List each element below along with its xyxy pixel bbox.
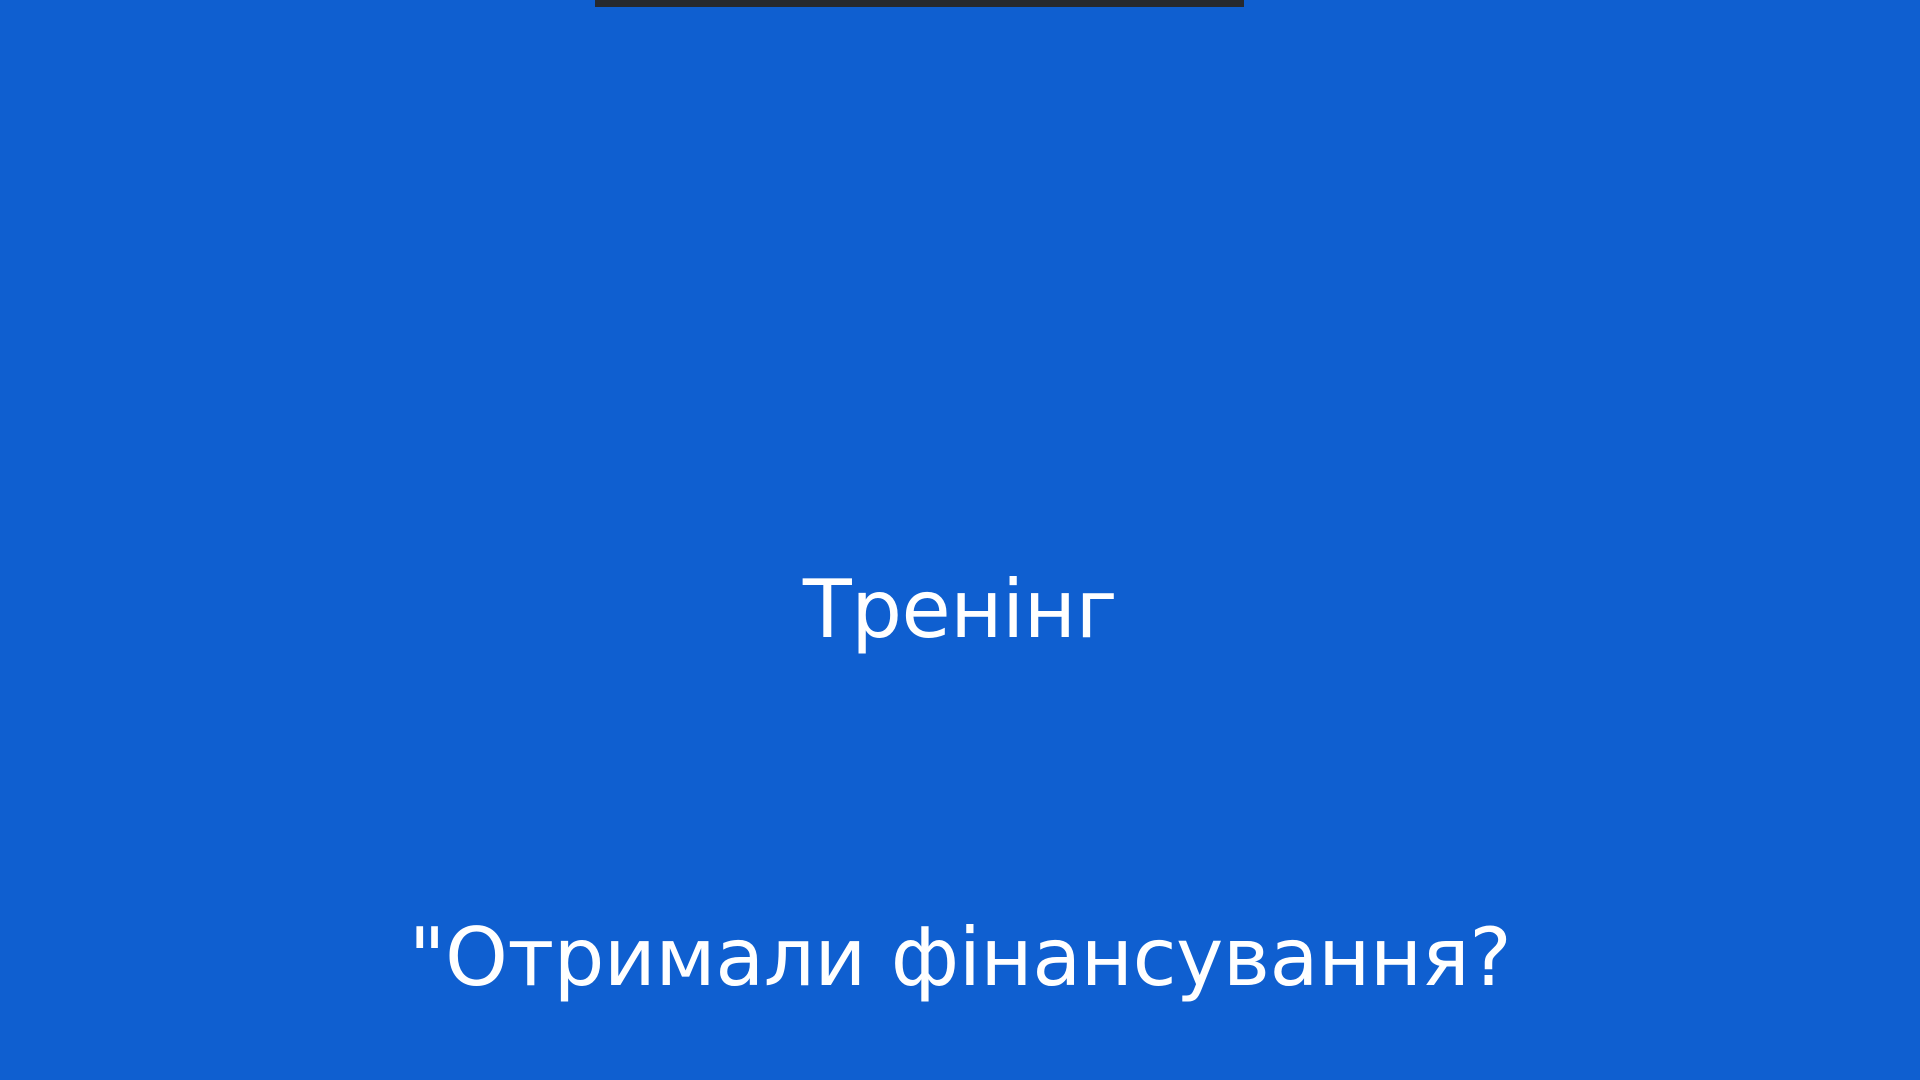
title-line-2: "Отримали фінансування?	[30, 900, 1890, 1016]
presentation-slide: Тренінг "Отримали фінансування? Як викор…	[0, 0, 1920, 1080]
slide-content: Тренінг "Отримали фінансування? Як викор…	[0, 0, 1920, 1080]
title-line-1: Тренінг	[30, 552, 1890, 668]
slide-title: Тренінг "Отримали фінансування? Як викор…	[30, 320, 1890, 1080]
